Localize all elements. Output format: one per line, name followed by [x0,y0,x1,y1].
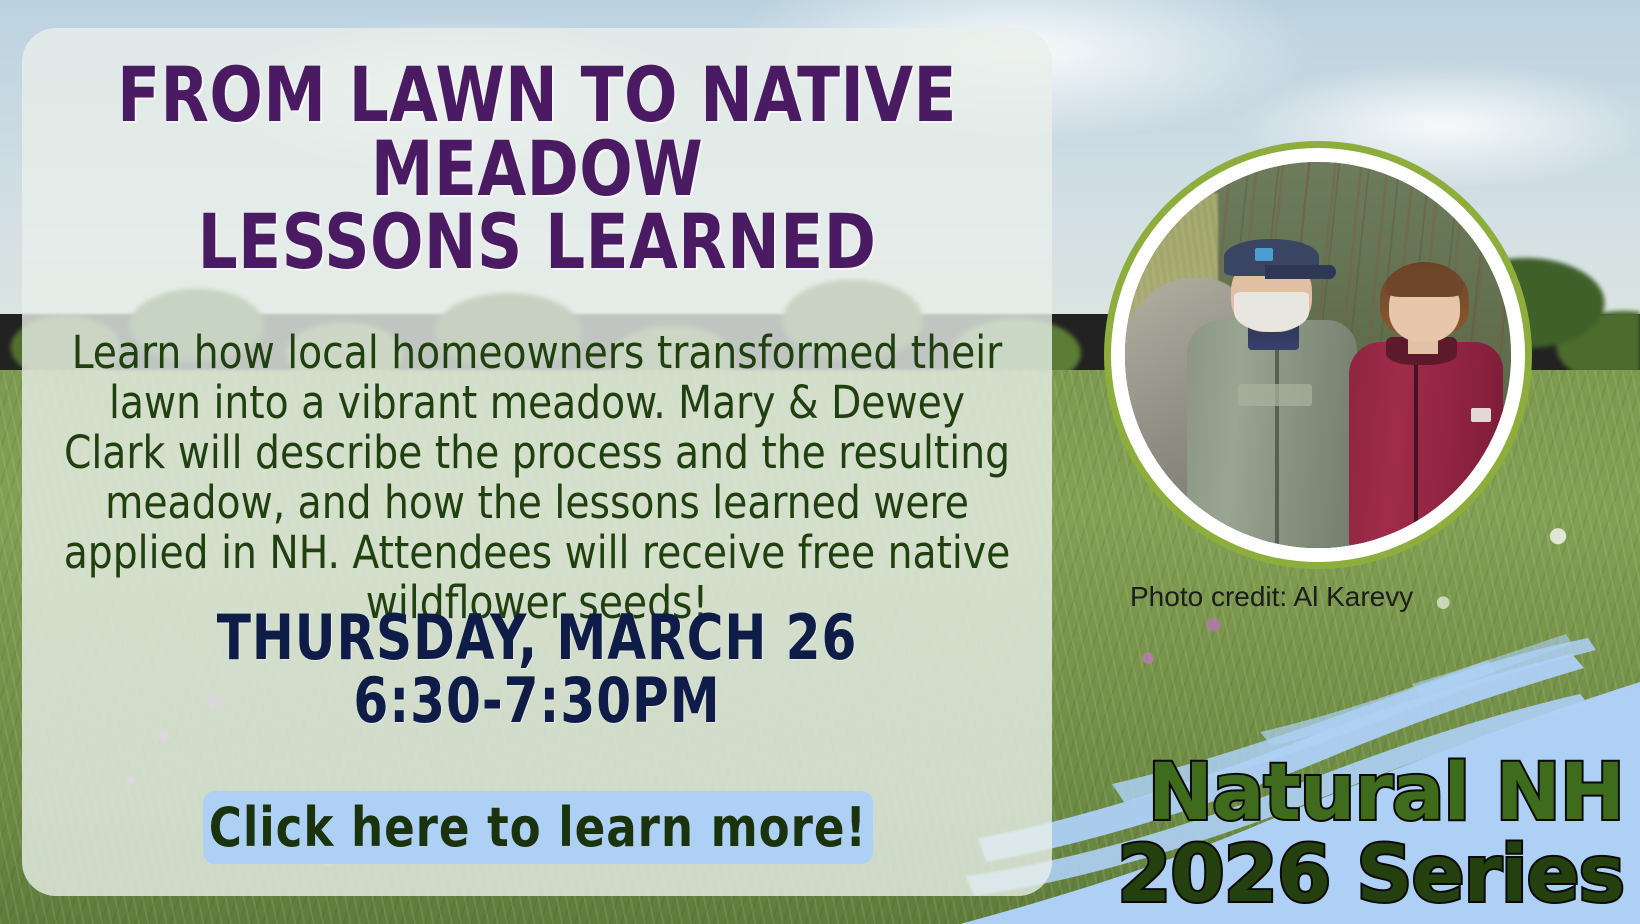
man-jacket-zipper [1275,320,1279,549]
series-branding: Natural NH 2026 Series [1117,754,1624,914]
headline-line-2: LESSONS LEARNED [63,205,1011,279]
speakers-portrait [1104,141,1532,569]
series-year: 2026 Series [1117,836,1624,914]
woman-hair-fringe [1386,271,1463,297]
portrait-person-woman [1349,262,1503,548]
event-description: Learn how local homeowners transformed t… [61,328,1014,628]
woman-fleece-jacket [1349,342,1503,548]
photo-credit: Photo credit: Al Karevy [1130,581,1530,613]
learn-more-button[interactable]: Click here to learn more! [203,791,873,864]
series-name: Natural NH [1117,754,1624,832]
man-cap-brim [1265,265,1336,279]
portrait-white-ring [1111,148,1525,562]
event-time: 6:30-7:30PM [74,669,1001,732]
page-title: FROM LAWN TO NATIVE MEADOW LESSONS LEARN… [63,58,1011,279]
portrait-person-man [1187,239,1357,548]
event-date: THURSDAY, MARCH 26 [217,601,858,674]
event-datetime: THURSDAY, MARCH 26 6:30-7:30PM [74,606,1001,732]
woman-jacket-logo [1471,408,1491,422]
man-beard [1234,292,1309,332]
man-fleece-jacket [1187,320,1357,549]
portrait-photo [1125,162,1511,548]
headline-line-1: FROM LAWN TO NATIVE MEADOW [63,58,1011,205]
woman-jacket-zipper [1414,342,1418,548]
man-jacket-pocket [1238,384,1313,406]
event-flyer: FROM LAWN TO NATIVE MEADOW LESSONS LEARN… [0,0,1640,924]
man-cap-logo [1255,248,1274,260]
learn-more-button-label: Click here to learn more! [209,796,867,859]
